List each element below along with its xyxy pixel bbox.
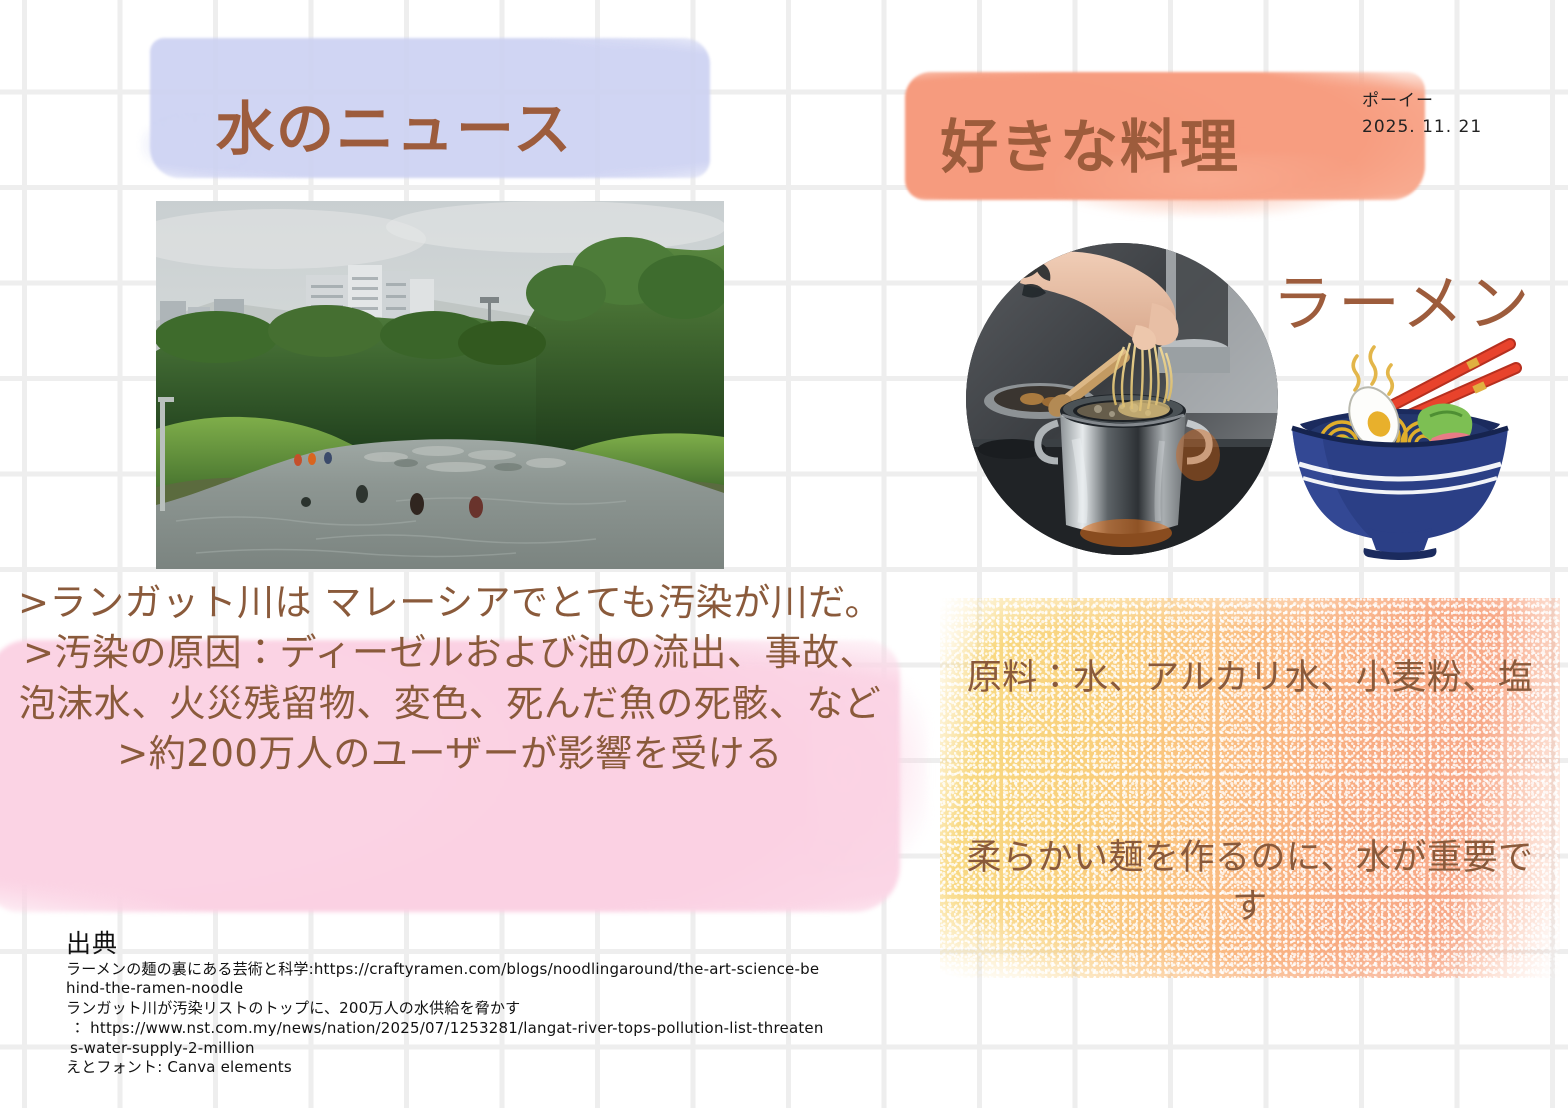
sources-block: 出典 ラーメンの麺の裏にある芸術と科学:https://craftyramen.… (66, 930, 826, 1078)
ingredients-text: 原料：水、アルカリ水、小麦粉、塩 (960, 654, 1540, 703)
ramen-cooking-photo (966, 243, 1278, 555)
source-line: ランガット川が汚染リストのトップに、200万人の水供給を脅かす (66, 999, 826, 1019)
text-line: >ランガット川は マレーシアでとても汚染が川だ。 (10, 578, 890, 628)
left-body-text: >ランガット川は マレーシアでとても汚染が川だ。>汚染の原因：ディーゼルおよび油… (10, 578, 890, 779)
text-line: 原料：水、アルカリ水、小麦粉、塩 (960, 654, 1540, 703)
source-line[interactable]: ラーメンの麺の裏にある芸術と科学:https://craftyramen.com… (66, 960, 826, 1000)
source-line: えとフォント: Canva elements (66, 1058, 826, 1078)
poster-canvas: 水のニュース 好きな料理 ポーイー 2025. 11. 21 (0, 0, 1568, 1108)
text-line: >汚染の原因：ディーゼルおよび油の流出、事故、泡沫水、火災残留物、変色、死んだ魚… (10, 628, 890, 729)
water-note-text: 柔らかい麺を作るのに、水が重要です (960, 834, 1540, 932)
right-section-title: 好きな料理 (940, 100, 1240, 184)
byline: ポーイー 2025. 11. 21 (1362, 88, 1482, 141)
text-line: >約200万人のユーザーが影響を受ける (10, 729, 890, 779)
left-section-title: 水のニュース (216, 82, 573, 166)
sources-heading: 出典 (66, 930, 826, 958)
river-photo-graphic (156, 201, 724, 569)
ramen-word: ラーメン (1272, 253, 1534, 343)
ramen-cooking-photo-graphic (966, 243, 1278, 555)
text-line: 柔らかい麺を作るのに、水が重要です (960, 834, 1540, 932)
ramen-bowl-illustration (1272, 332, 1528, 564)
byline-date: 2025. 11. 21 (1362, 114, 1482, 140)
river-photo (156, 201, 724, 569)
byline-author: ポーイー (1362, 88, 1482, 114)
source-line[interactable]: ： https://www.nst.com.my/news/nation/202… (66, 1019, 826, 1059)
